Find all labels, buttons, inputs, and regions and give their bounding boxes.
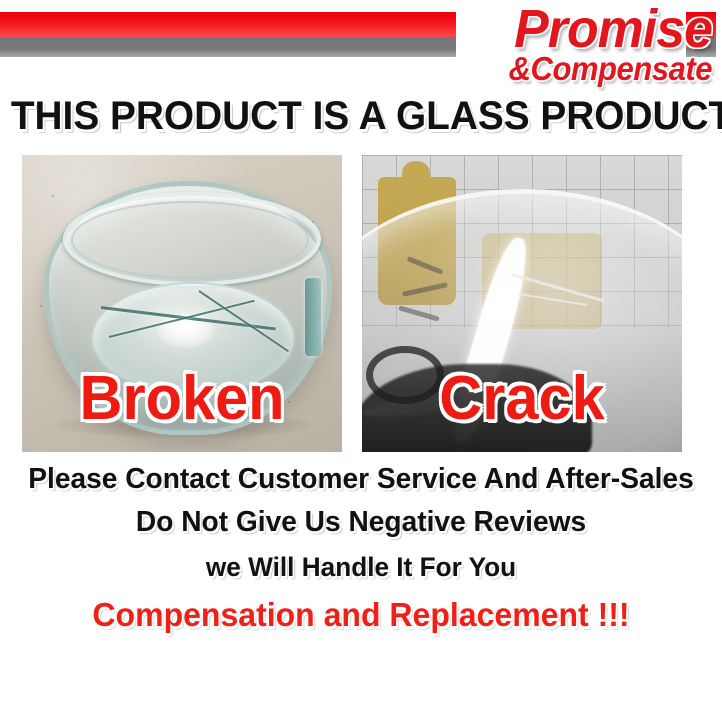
brand-logo-name: Promise (462, 2, 712, 56)
photo-crack: Crack (362, 155, 682, 452)
photo-broken: Broken (22, 155, 342, 452)
bowl-rim-inner (71, 201, 309, 279)
header-band: Promise &Compensate (0, 0, 722, 95)
glass-product-notice-poster: Promise &Compensate THIS PRODUCT IS A GL… (0, 0, 722, 722)
header-stripe-red (0, 12, 456, 37)
photo-label-crack: Crack (368, 368, 675, 430)
bowl-handle (305, 278, 321, 356)
header-stripe-gray (0, 37, 456, 57)
header-stripe-main (0, 12, 456, 57)
brand-logo: Promise &Compensate (452, 2, 712, 85)
photo-label-broken: Broken (28, 368, 335, 430)
message-line-3: we Will Handle It For You (11, 545, 711, 589)
message-line-1: Please Contact Customer Service And Afte… (11, 458, 711, 500)
message-line-2: Do Not Give Us Negative Reviews (11, 500, 711, 545)
message-line-4-highlight: Compensation and Replacement !!! (11, 589, 711, 641)
photo-row: Broken Crack (0, 155, 722, 452)
counter-speck (40, 305, 42, 307)
brand-logo-subtitle: &Compensate (468, 52, 712, 85)
message-block: Please Contact Customer Service And Afte… (0, 458, 722, 641)
counter-speck (52, 195, 54, 197)
page-title: THIS PRODUCT IS A GLASS PRODUCT (11, 93, 711, 139)
